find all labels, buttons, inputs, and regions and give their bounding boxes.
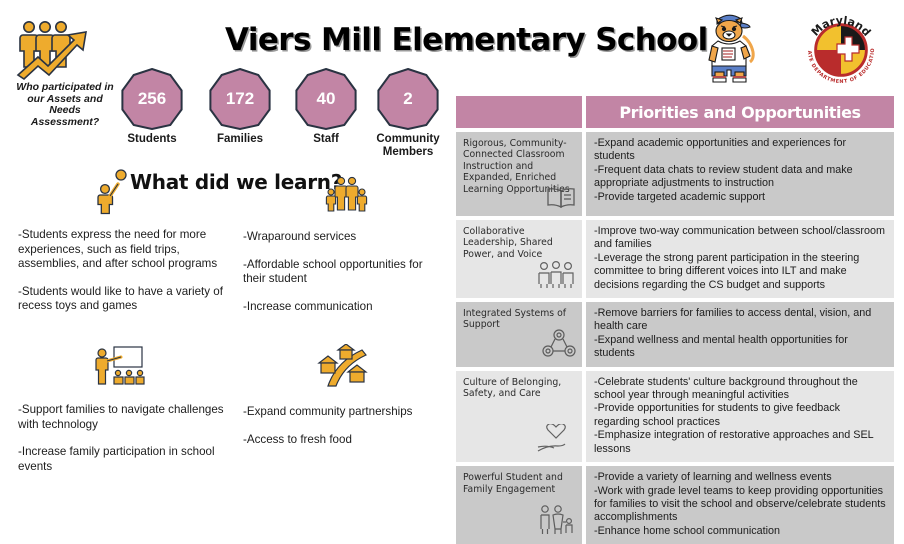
people-growth-arrow-icon: [12, 16, 98, 82]
stat-families: 172 Families: [192, 68, 288, 146]
row-items: -Celebrate students' culture background …: [586, 371, 894, 462]
finding-item: -Support families to navigate challenges…: [18, 403, 228, 432]
participation-question: Who participated in our Assets and Needs…: [16, 82, 114, 128]
row-item: -Frequent data chats to review student d…: [594, 164, 886, 191]
findings-community: -Expand community partnerships -Access t…: [243, 405, 448, 447]
row-label-text: Powerful Student and Family Engagement: [463, 472, 563, 494]
finding-item: -Access to fresh food: [243, 433, 448, 448]
finding-item: -Students express the need for more expe…: [18, 228, 223, 272]
table-row: Collaborative Leadership, Shared Power, …: [456, 220, 894, 298]
person-raising-hand-icon: [92, 167, 130, 215]
row-item: -Provide opportunities for students to g…: [594, 402, 886, 429]
finding-item: -Affordable school opportunities for the…: [243, 258, 448, 287]
findings-technology: -Support families to navigate challenges…: [18, 403, 228, 474]
maryland-state-department-of-education-logo: Maryland STATE DEPARTMENT OF EDUCATION: [800, 8, 882, 84]
table-row: Powerful Student and Family Engagement: [456, 466, 894, 544]
decagon-shape: 172: [209, 68, 271, 130]
finding-item: -Students would like to have a variety o…: [18, 285, 223, 314]
row-label-text: Culture of Belonging, Safety, and Care: [463, 377, 561, 399]
row-label: Integrated Systems of Support: [456, 302, 582, 367]
stat-value: 40: [295, 68, 357, 130]
findings-students: -Students express the need for more expe…: [18, 228, 223, 314]
priorities-table: Priorities and Opportunities Rigorous, C…: [456, 96, 894, 544]
learn-heading: What did we learn?: [130, 170, 342, 194]
finding-item: -Increase communication: [243, 300, 448, 315]
tiger-mascot-icon: [695, 6, 765, 84]
table-header-row: Priorities and Opportunities: [456, 96, 894, 128]
header-spacer-cell: [456, 96, 582, 128]
row-label: Culture of Belonging, Safety, and Care: [456, 371, 582, 462]
row-items: -Expand academic opportunities and exper…: [586, 132, 894, 216]
table-row: Integrated Systems of Support -Remove ba…: [456, 302, 894, 367]
row-items: -Improve two-way communication between s…: [586, 220, 894, 298]
row-item: -Expand wellness and mental health oppor…: [594, 334, 886, 361]
findings-families: -Wraparound services -Affordable school …: [243, 230, 448, 314]
row-item: -Remove barriers for families to access …: [594, 307, 886, 334]
header-title-cell: Priorities and Opportunities: [586, 96, 894, 128]
stat-value: 2: [377, 68, 439, 130]
stat-value: 172: [209, 68, 271, 130]
row-item: -Provide a variety of learning and welln…: [594, 471, 886, 484]
row-items: -Remove barriers for families to access …: [586, 302, 894, 367]
open-book-icon: [546, 186, 576, 211]
priorities-heading: Priorities and Opportunities: [619, 103, 860, 122]
heart-in-hand-icon: [536, 424, 576, 457]
row-item: -Work with grade level teams to keep pro…: [594, 485, 886, 525]
row-label: Collaborative Leadership, Shared Power, …: [456, 220, 582, 298]
finding-item: -Expand community partnerships: [243, 405, 448, 420]
row-item: -Provide targeted academic support: [594, 191, 886, 204]
decagon-shape: 256: [121, 68, 183, 130]
row-label: Powerful Student and Family Engagement: [456, 466, 582, 544]
row-items: -Provide a variety of learning and welln…: [586, 466, 894, 544]
row-item: -Leverage the strong parent participatio…: [594, 252, 886, 292]
row-item: -Emphasize integration of restorative ap…: [594, 429, 886, 456]
row-label: Rigorous, Community-Connected Classroom …: [456, 132, 582, 216]
family-group-icon: [322, 173, 370, 215]
network-nodes-icon: [542, 328, 576, 361]
page-title: Viers Mill Elementary School: [225, 22, 685, 58]
decagon-shape: 2: [377, 68, 439, 130]
stat-students: 256 Students: [104, 68, 200, 146]
parents-and-child-icon: [536, 504, 576, 539]
three-people-icon: [536, 260, 576, 293]
teacher-whiteboard-icon: [92, 344, 146, 390]
finding-item: -Increase family participation in school…: [18, 445, 228, 474]
table-row: Rigorous, Community-Connected Classroom …: [456, 132, 894, 216]
stat-label: Community Members: [360, 133, 456, 159]
row-item: -Enhance home school communication: [594, 525, 886, 538]
table-row: Culture of Belonging, Safety, and Care -…: [456, 371, 894, 462]
houses-community-icon: [316, 344, 368, 390]
row-item: -Improve two-way communication between s…: [594, 225, 886, 252]
stat-community-members: 2 Community Members: [360, 68, 456, 159]
row-label-text: Collaborative Leadership, Shared Power, …: [463, 226, 553, 260]
row-label-text: Integrated Systems of Support: [463, 308, 566, 330]
finding-item: -Wraparound services: [243, 230, 448, 245]
stat-value: 256: [121, 68, 183, 130]
decagon-shape: 40: [295, 68, 357, 130]
stat-label: Students: [104, 133, 200, 146]
row-item: -Celebrate students' culture background …: [594, 376, 886, 403]
row-item: -Expand academic opportunities and exper…: [594, 137, 886, 164]
stat-label: Families: [192, 133, 288, 146]
